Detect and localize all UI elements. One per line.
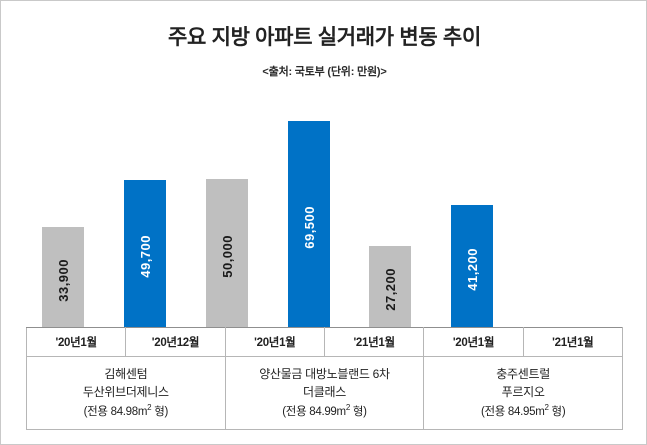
apartment-area-prefix-2: (전용 84.95m xyxy=(481,406,545,418)
apartment-name-line1-1: 양산물금 대방노블랜드 6차 xyxy=(230,365,420,384)
apartment-area-prefix-1: (전용 84.99m xyxy=(282,406,346,418)
bar-3[interactable]: 69,500 xyxy=(288,121,330,327)
apartment-name-line2-1: 더클래스 xyxy=(230,383,420,402)
apartment-name-line1-2: 충주센트럴 xyxy=(428,365,618,384)
period-cell-1: '20년12월 xyxy=(126,328,225,357)
apartment-area-0: (전용 84.98m2 형) xyxy=(31,402,221,422)
chart-container: 주요 지방 아파트 실거래가 변동 추이 <출처: 국토부 (단위: 만원)> … xyxy=(0,0,647,445)
bar-value-5: 41,200 xyxy=(466,242,479,291)
bar-value-1: 49,700 xyxy=(139,229,152,278)
period-row: '20년1월 '20년12월 '20년1월 '21년1월 '20년1월 '21년… xyxy=(27,328,623,357)
bar-0[interactable]: 33,900 xyxy=(42,227,84,327)
period-cell-0: '20년1월 xyxy=(27,328,126,357)
apartment-area-suffix-2: 형) xyxy=(549,406,566,418)
period-cell-5: '21년1월 xyxy=(523,328,622,357)
chart-subtitle: <출처: 국토부 (단위: 만원)> xyxy=(1,63,647,79)
bar-value-3: 69,500 xyxy=(303,200,316,249)
period-cell-4: '20년1월 xyxy=(424,328,523,357)
page-title: 주요 지방 아파트 실거래가 변동 추이 xyxy=(1,21,647,51)
apartment-area-suffix-1: 형) xyxy=(350,406,367,418)
axis-label-table: '20년1월 '20년12월 '20년1월 '21년1월 '20년1월 '21년… xyxy=(26,327,623,430)
bar-value-4: 27,200 xyxy=(384,262,397,311)
apartment-area-prefix-0: (전용 84.98m xyxy=(84,406,148,418)
apartment-area-1: (전용 84.99m2 형) xyxy=(230,402,420,422)
period-cell-2: '20년1월 xyxy=(225,328,324,357)
bar-value-2: 50,000 xyxy=(221,229,234,278)
bar-1[interactable]: 49,700 xyxy=(124,180,166,327)
apartment-name-row: 김해센텀 두산위브더제니스 (전용 84.98m2 형) 양산물금 대방노블랜드… xyxy=(27,357,623,430)
apartment-area-2: (전용 84.95m2 형) xyxy=(428,402,618,422)
bar-2[interactable]: 50,000 xyxy=(206,179,248,327)
apartment-name-line2-0: 두산위브더제니스 xyxy=(31,383,221,402)
period-cell-3: '21년1월 xyxy=(324,328,423,357)
apartment-cell-1: 양산물금 대방노블랜드 6차 더클래스 (전용 84.99m2 형) xyxy=(225,357,424,430)
bar-4[interactable]: 27,200 xyxy=(369,246,411,327)
apartment-name-line2-2: 푸르지오 xyxy=(428,383,618,402)
apartment-cell-0: 김해센텀 두산위브더제니스 (전용 84.98m2 형) xyxy=(27,357,226,430)
apartment-area-suffix-0: 형) xyxy=(151,406,168,418)
apartment-cell-2: 충주센트럴 푸르지오 (전용 84.95m2 형) xyxy=(424,357,623,430)
bar-value-0: 33,900 xyxy=(57,253,70,302)
apartment-name-line1-0: 김해센텀 xyxy=(31,365,221,384)
plot-area: 33,900 49,700 50,000 69,500 27,200 41,20… xyxy=(1,96,647,327)
bar-5[interactable]: 41,200 xyxy=(451,205,493,327)
